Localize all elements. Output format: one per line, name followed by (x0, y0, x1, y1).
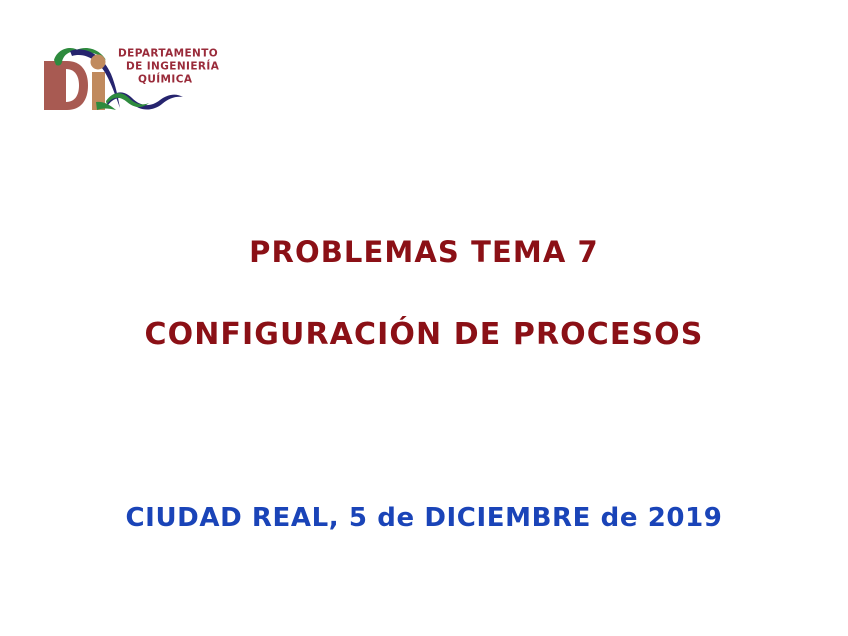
slide-footer: CIUDAD REAL, 5 de DICIEMBRE de 2019 (0, 500, 848, 536)
title-line-1: PROBLEMAS TEMA 7 (0, 232, 848, 272)
logo-wordmark: DEPARTAMENTO DE INGENIERÍA QUÍMICA (118, 48, 238, 85)
slide-title: PROBLEMAS TEMA 7 CONFIGURACIÓN DE PROCES… (0, 232, 848, 355)
logo-wave-ribbon-icon (106, 88, 184, 114)
title-line-2: CONFIGURACIÓN DE PROCESOS (0, 315, 848, 355)
logo-line-1: DEPARTAMENTO (118, 48, 238, 60)
department-logo: DEPARTAMENTO DE INGENIERÍA QUÍMICA (40, 44, 236, 116)
place-and-date-text: CIUDAD REAL, 5 de DICIEMBRE de 2019 (0, 500, 848, 536)
logo-line-3: QUÍMICA (118, 74, 238, 86)
logo-line-2: DE INGENIERÍA (118, 61, 238, 73)
presentation-slide: DEPARTAMENTO DE INGENIERÍA QUÍMICA PROBL… (0, 0, 848, 636)
